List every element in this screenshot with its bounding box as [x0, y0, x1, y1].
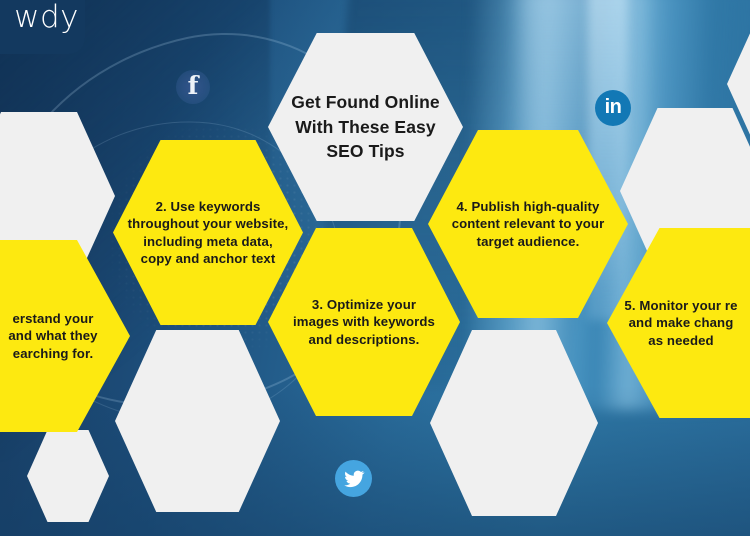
tip-2-line-3: including meta data, — [128, 233, 289, 250]
tip-3-line-1: 3. Optimize your — [293, 296, 435, 313]
tip-4-line-2: content relevant to your — [452, 215, 605, 232]
facebook-glyph: f — [188, 73, 199, 101]
tip-2-line-1: 2. Use keywords — [128, 198, 289, 215]
tip-4-line-3: target audience. — [452, 233, 605, 250]
facebook-icon[interactable]: f — [176, 70, 210, 104]
title-line-2: With These Easy — [291, 115, 439, 140]
tip-1-line-3: earching for. — [8, 345, 97, 362]
infographic-canvas: Get Found Online With These Easy SEO Tip… — [0, 0, 750, 536]
tip-3-text-block: 3. Optimize your images with keywords an… — [285, 296, 443, 348]
tip-5-text-block: 5. Monitor your re and make chang as nee… — [616, 297, 750, 349]
tip-1-text-block: erstand your and what they earching for. — [0, 310, 106, 362]
brand-logo-badge[interactable]: wdy — [0, 0, 85, 54]
tip-1-line-2: and what they — [8, 327, 97, 344]
tip-3-line-2: images with keywords — [293, 313, 435, 330]
tip-2-line-4: copy and anchor text — [128, 250, 289, 267]
title-line-1: Get Found Online — [291, 90, 439, 115]
twitter-bird-glyph — [343, 468, 365, 490]
tip-2-line-2: throughout your website, — [128, 215, 289, 232]
tip-5-line-2: and make chang — [624, 314, 737, 331]
twitter-icon[interactable] — [335, 460, 372, 497]
tip-4-line-1: 4. Publish high-quality — [452, 198, 605, 215]
tip-5-line-1: 5. Monitor your re — [624, 297, 737, 314]
tip-4-text-block: 4. Publish high-quality content relevant… — [444, 198, 613, 250]
tip-1-line-1: erstand your — [8, 310, 97, 327]
brand-logo-text: wdy — [14, 2, 79, 37]
linkedin-icon[interactable]: in — [595, 90, 631, 126]
tip-3-line-3: and descriptions. — [293, 331, 435, 348]
title-text-block: Get Found Online With These Easy SEO Tip… — [283, 90, 447, 165]
tip-5-line-3: as needed — [624, 332, 737, 349]
title-line-3: SEO Tips — [291, 139, 439, 164]
linkedin-glyph: in — [605, 97, 622, 119]
tip-2-text-block: 2. Use keywords throughout your website,… — [120, 198, 297, 268]
